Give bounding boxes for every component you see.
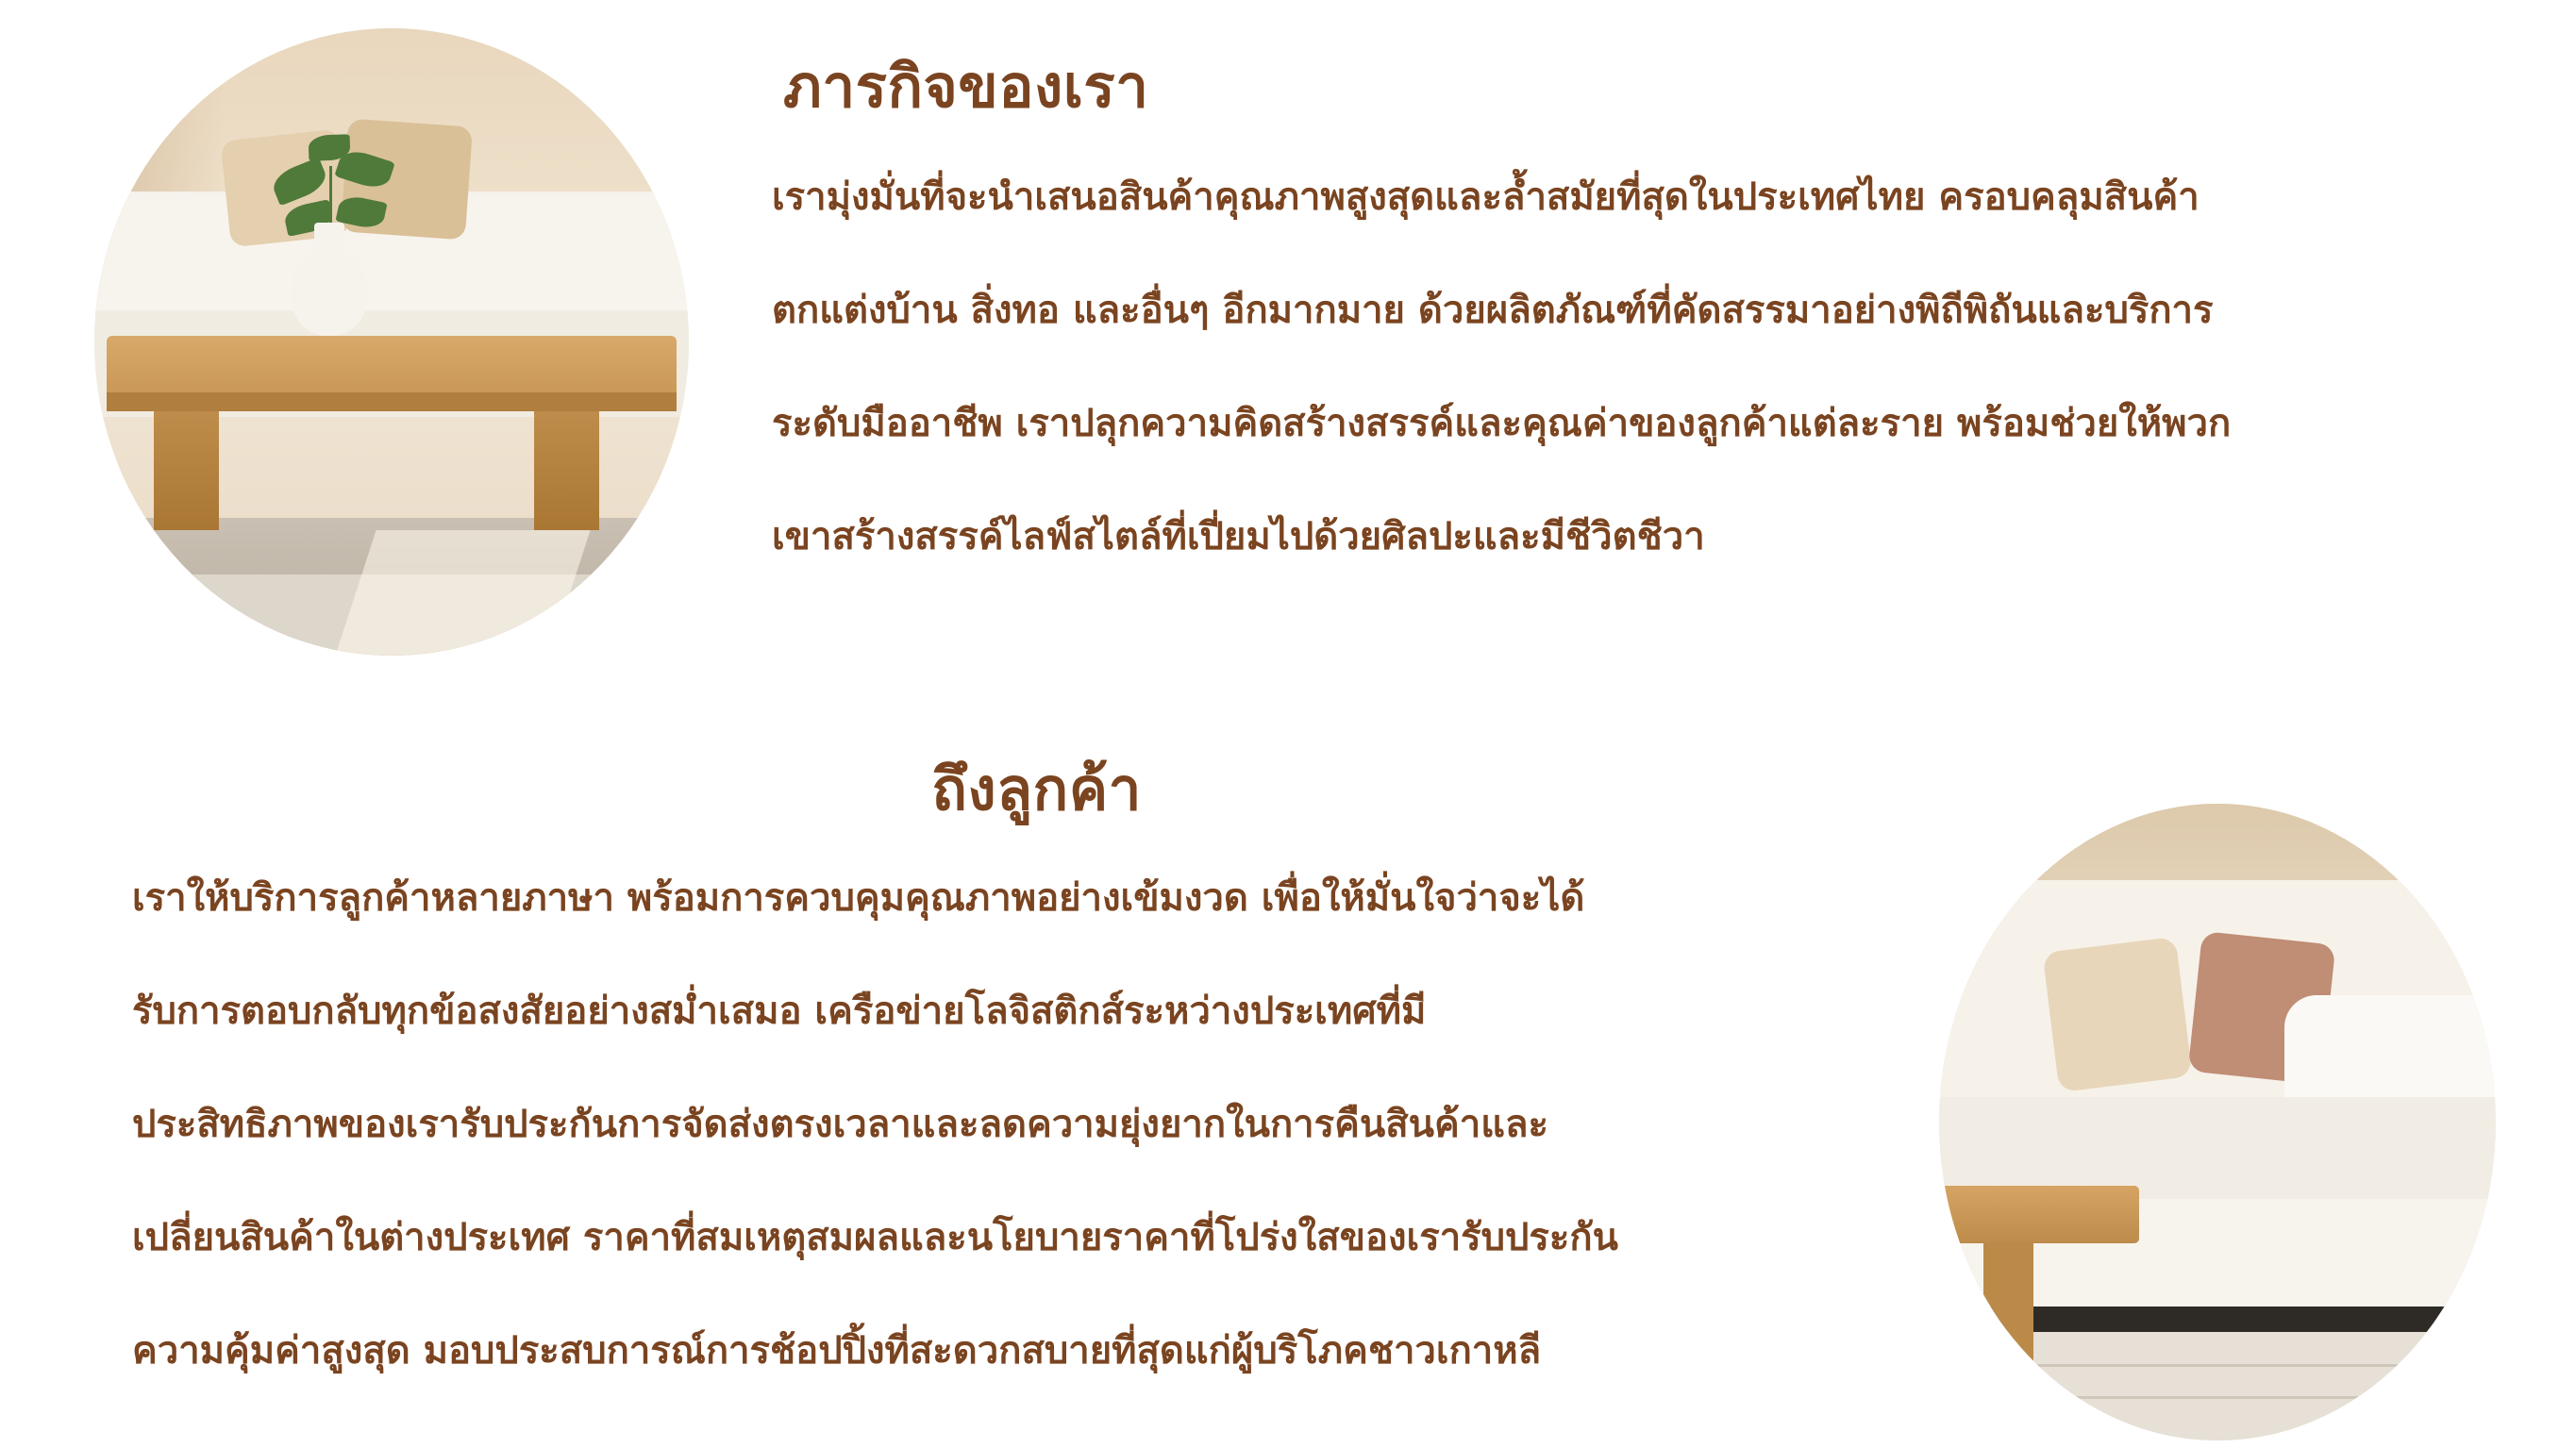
section-customers: ถึงลูกค้า เราให้บริการลูกค้าหลายภาษา พร้…	[0, 717, 2576, 1448]
mission-paragraph: เรามุ่งมั่นที่จะนำเสนอสินค้าคุณภาพสูงสุด…	[772, 141, 2433, 593]
mission-line: ระดับมืออาชีพ เราปลุกความคิดสร้างสรรค์แล…	[772, 367, 2433, 480]
table-leg-shape	[534, 405, 599, 530]
rug-stripe-shape	[1939, 1396, 2496, 1399]
pillow-cream-shape	[2042, 936, 2192, 1091]
customers-line: ประสิทธิภาพของเรารับประกันการจัดส่งตรงเว…	[132, 1068, 1859, 1181]
customers-line: ความคุ้มค่าสูงสุด มอบประสบการณ์การช้อปปิ…	[132, 1294, 1859, 1407]
customers-text-block: ถึงลูกค้า เราให้บริการลูกค้าหลายภาษา พร้…	[132, 717, 1859, 1407]
customers-line: เปลี่ยนสินค้าในต่างประเทศ ราคาที่สมเหตุส…	[132, 1181, 1859, 1294]
sunlight-patch-shape	[336, 530, 591, 656]
mission-line: ตกแต่งบ้าน สิ่งทอ และอื่นๆ อีกมากมาย ด้ว…	[772, 254, 2433, 367]
table-leg-shape	[154, 405, 219, 530]
customers-heading: ถึงลูกค้า	[132, 755, 1859, 824]
coffee-table-edge-shape	[107, 392, 677, 411]
photo-artwork	[94, 28, 689, 656]
mission-line: เขาสร้างสรรค์ไลฟ์สไตล์ที่เปี่ยมไปด้วยศิล…	[772, 480, 2433, 593]
coffee-table-top-shape	[1939, 1186, 2139, 1243]
vase-shape	[291, 248, 368, 336]
table-leg-shape	[1983, 1237, 2033, 1377]
mission-text-block: ภารกิจของเรา เรามุ่งมั่นที่จะนำเสนอสินค้…	[772, 52, 2433, 593]
customers-paragraph: เราให้บริการลูกค้าหลายภาษา พร้อมการควบคุ…	[132, 841, 1859, 1407]
section-mission: ภารกิจของเรา เรามุ่งมั่นที่จะนำเสนอสินค้…	[0, 0, 2576, 717]
page-root: ภารกิจของเรา เรามุ่งมั่นที่จะนำเสนอสินค้…	[0, 0, 2576, 1448]
mission-line: เรามุ่งมั่นที่จะนำเสนอสินค้าคุณภาพสูงสุด…	[772, 141, 2433, 254]
white-sofa-cushions-photo	[1939, 804, 2496, 1440]
customers-line: รับการตอบกลับทุกข้อสงสัยอย่างสม่ำเสมอ เค…	[132, 955, 1859, 1068]
mission-heading: ภารกิจของเรา	[772, 52, 2433, 122]
photo-artwork	[1939, 804, 2496, 1440]
customers-line: เราให้บริการลูกค้าหลายภาษา พร้อมการควบคุ…	[132, 841, 1859, 955]
living-room-sofa-coffee-table-photo	[94, 28, 689, 656]
